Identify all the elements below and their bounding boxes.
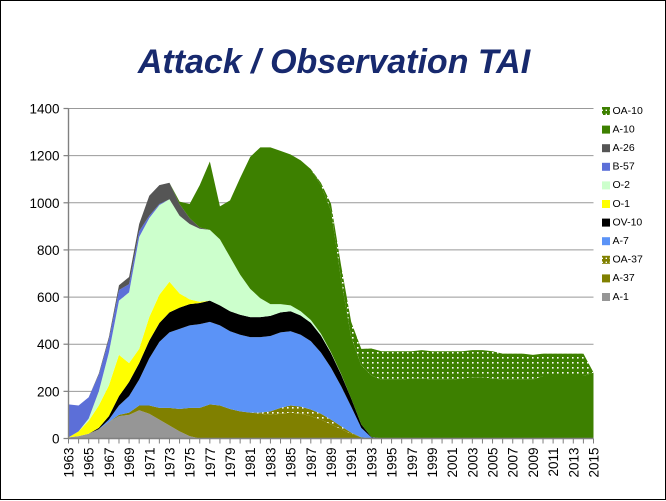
y-tick-label: 1000 <box>29 196 59 211</box>
x-tick-label: 1987 <box>304 448 319 478</box>
x-tick-label: 1981 <box>243 448 258 478</box>
legend-swatch-oa-10 <box>602 107 610 115</box>
x-tick-label: 1979 <box>223 448 238 478</box>
legend-label-o-2: O-2 <box>613 179 631 191</box>
legend-label-ov-10: OV-10 <box>613 216 643 228</box>
x-tick-label: 1971 <box>142 448 157 478</box>
x-tick-label: 1963 <box>62 448 77 478</box>
x-tick-label: 2005 <box>486 448 501 478</box>
stacked-areas <box>69 147 594 438</box>
x-tick-label: 2001 <box>445 448 460 478</box>
x-tick-label: 1999 <box>425 448 440 478</box>
legend-swatch-oa-37 <box>602 256 610 264</box>
legend-label-oa-10: OA-10 <box>613 105 644 117</box>
y-tick-label: 400 <box>37 337 60 352</box>
x-tick-label: 2009 <box>526 448 541 478</box>
y-tick-label: 800 <box>37 243 60 258</box>
x-tick-label: 1967 <box>102 448 117 478</box>
chart-legend: OA-10A-10A-26B-57O-2O-1OV-10A-7OA-37A-37… <box>602 105 643 303</box>
legend-label-o-1: O-1 <box>613 198 631 210</box>
legend-swatch-a-1 <box>602 293 610 301</box>
legend-label-a-7: A-7 <box>613 235 630 247</box>
legend-label-a-26: A-26 <box>613 142 635 154</box>
legend-swatch-a-26 <box>602 144 610 152</box>
legend-swatch-a-37 <box>602 274 610 282</box>
x-tick-label: 2013 <box>566 448 581 478</box>
x-tick-label: 1997 <box>405 448 420 478</box>
x-tick-label: 1983 <box>263 448 278 478</box>
legend-swatch-o-2 <box>602 181 610 189</box>
x-axis-ticks: 1963196519671969197119731975197719791981… <box>62 439 602 478</box>
x-tick-label: 1975 <box>183 448 198 478</box>
y-tick-label: 200 <box>37 384 60 399</box>
x-tick-label: 1985 <box>284 448 299 478</box>
x-tick-label: 2003 <box>465 448 480 478</box>
y-tick-label: 600 <box>37 290 60 305</box>
y-axis-ticks: 0200400600800100012001400 <box>29 102 68 447</box>
x-tick-label: 1973 <box>162 448 177 478</box>
x-tick-label: 2011 <box>546 448 561 477</box>
x-tick-label: 1977 <box>203 448 218 478</box>
legend-label-b-57: B-57 <box>613 161 635 173</box>
legend-swatch-ov-10 <box>602 219 610 227</box>
legend-swatch-b-57 <box>602 163 610 171</box>
legend-label-oa-37: OA-37 <box>613 254 644 266</box>
x-tick-label: 2007 <box>506 448 521 478</box>
legend-label-a-1: A-1 <box>613 291 630 303</box>
x-tick-label: 1991 <box>344 448 359 478</box>
legend-swatch-o-1 <box>602 200 610 208</box>
y-tick-label: 0 <box>52 432 60 447</box>
x-tick-label: 1995 <box>385 448 400 478</box>
y-tick-label: 1400 <box>29 102 59 117</box>
legend-swatch-a-10 <box>602 126 610 134</box>
x-tick-label: 1993 <box>364 448 379 478</box>
x-tick-label: 2015 <box>587 448 602 478</box>
legend-label-a-37: A-37 <box>613 272 635 284</box>
x-tick-label: 1989 <box>324 448 339 478</box>
chart-container: Attack / Observation TAI 020040060080010… <box>0 0 666 500</box>
area-chart-plot: 0200400600800100012001400 19631965196719… <box>1 1 666 501</box>
y-tick-label: 1200 <box>29 149 59 164</box>
legend-swatch-a-7 <box>602 237 610 245</box>
x-tick-label: 1969 <box>122 448 137 478</box>
x-tick-label: 1965 <box>82 448 97 478</box>
legend-label-a-10: A-10 <box>613 123 635 135</box>
